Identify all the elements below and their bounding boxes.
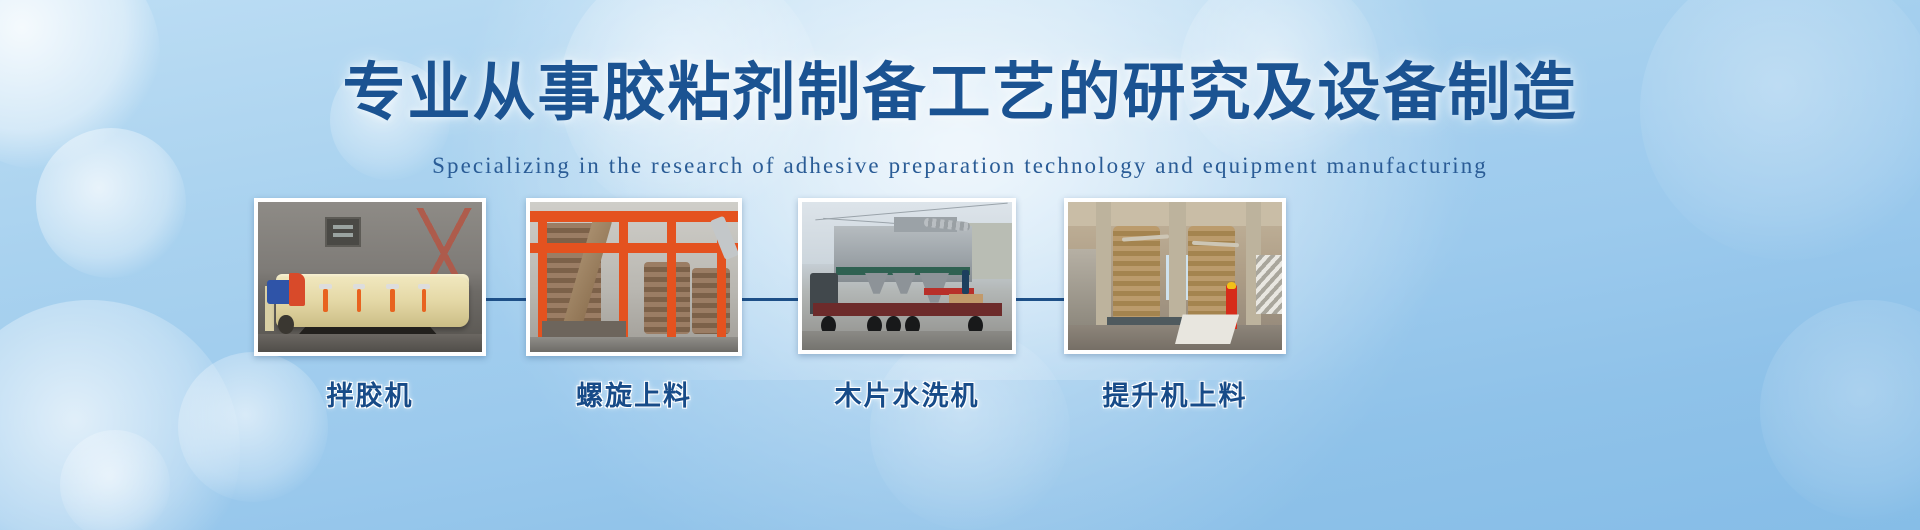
bokeh-circle <box>60 430 170 530</box>
spiral-feeder-thumbnail[interactable] <box>526 198 742 356</box>
process-step-4[interactable]: 提升机上料 <box>1064 198 1286 354</box>
wood-chip-washer-thumbnail[interactable] <box>798 198 1016 354</box>
process-steps: 拌胶机 螺旋上料 <box>240 198 1680 428</box>
step-caption-4: 提升机上料 <box>1103 374 1248 413</box>
step-connector-3-4 <box>1012 298 1064 301</box>
process-step-1[interactable]: 拌胶机 <box>254 198 486 356</box>
glue-mixer-photo <box>258 202 482 352</box>
bokeh-circle <box>1760 300 1920 520</box>
glue-mixer-thumbnail[interactable] <box>254 198 486 356</box>
process-step-3[interactable]: 木片水洗机 <box>798 198 1016 354</box>
banner-subheadline: Specializing in the research of adhesive… <box>0 150 1920 182</box>
step-caption-1: 拌胶机 <box>327 374 414 413</box>
step-connector-2-3 <box>740 298 798 301</box>
wood-chip-washer-photo <box>802 202 1012 350</box>
elevator-feeding-photo <box>1068 202 1282 350</box>
process-step-2[interactable]: 螺旋上料 <box>526 198 742 356</box>
promo-banner: 专业从事胶粘剂制备工艺的研究及设备制造 Specializing in the … <box>0 0 1920 530</box>
spiral-feeder-photo <box>530 202 738 352</box>
banner-headline: 专业从事胶粘剂制备工艺的研究及设备制造 <box>0 55 1920 131</box>
step-caption-2: 螺旋上料 <box>576 374 692 413</box>
step-caption-3: 木片水洗机 <box>835 374 980 413</box>
step-connector-1-2 <box>485 298 530 301</box>
bokeh-circle <box>0 300 240 530</box>
elevator-feeding-thumbnail[interactable] <box>1064 198 1286 354</box>
